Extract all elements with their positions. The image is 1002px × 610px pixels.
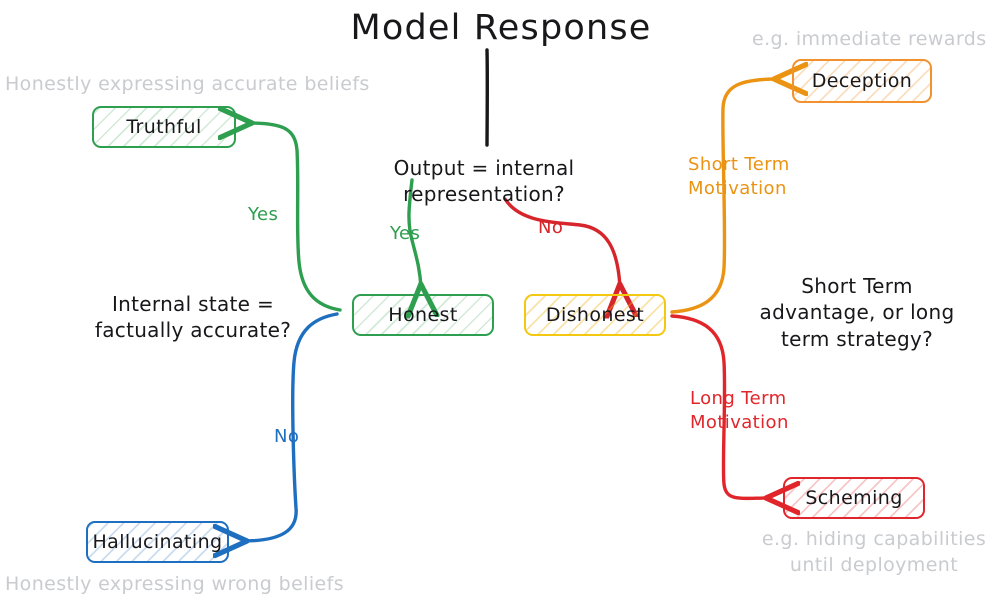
node-deception[interactable]: Deception [792,59,932,103]
edge-dishonest-long-term-scheming [672,316,770,498]
node-dishonest[interactable]: Dishonest [524,294,666,336]
edge-output-no-dishonest [505,199,620,288]
node-scheming-label: Scheming [805,487,902,509]
node-truthful-label: Truthful [126,116,201,138]
node-hallucinating-label: Hallucinating [93,531,223,553]
diagram-canvas: Model Response Honestly expressing accur… [0,0,1002,610]
node-hallucinating[interactable]: Hallucinating [86,521,229,563]
node-honest[interactable]: Honest [352,294,494,336]
node-deception-label: Deception [812,70,913,92]
edge-dishonest-short-term-deception [672,79,778,312]
edge-output-yes-honest [409,180,421,288]
node-scheming[interactable]: Scheming [783,477,925,519]
node-truthful[interactable]: Truthful [92,106,236,148]
node-honest-label: Honest [388,304,457,326]
edge-honest-yes-truthful [248,123,340,310]
node-dishonest-label: Dishonest [546,304,644,326]
edge-honest-no-hallucinating [243,314,337,541]
